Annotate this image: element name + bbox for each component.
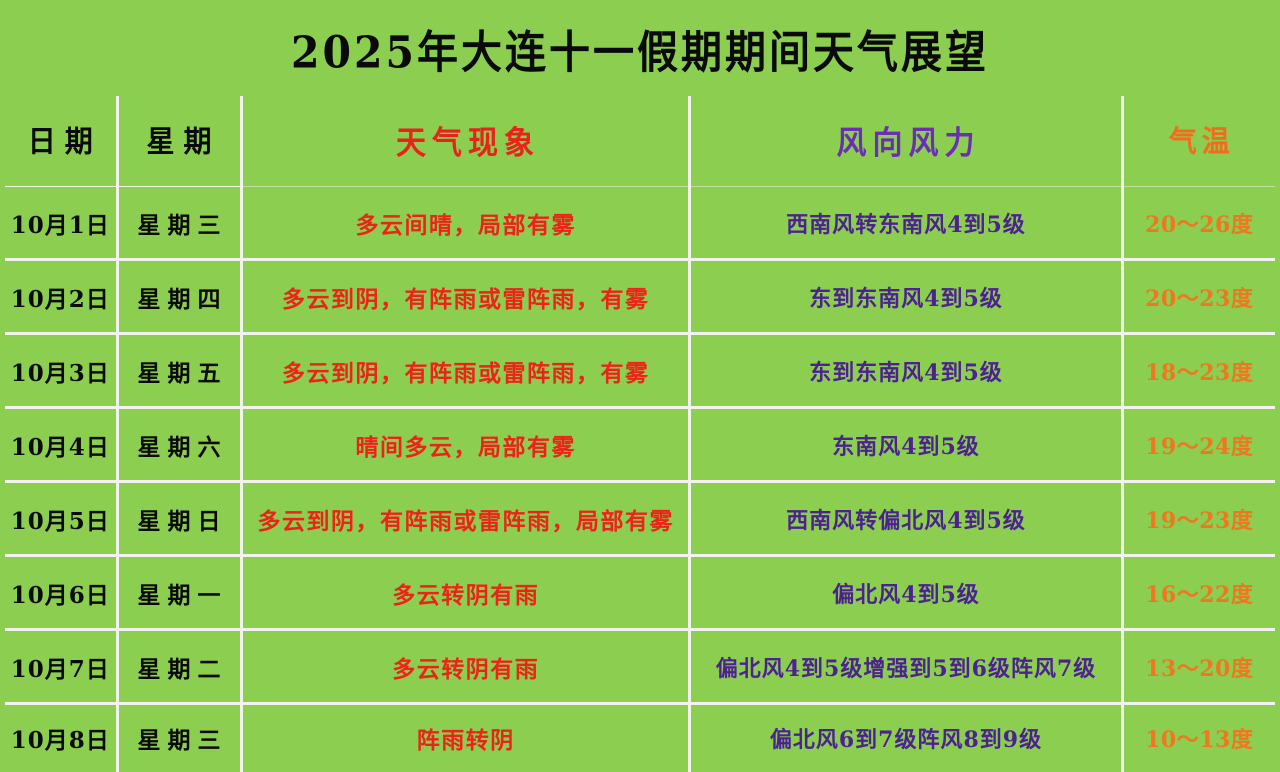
column-header-temperature: 气温 — [1122, 93, 1275, 188]
table-body: 10月1日 星期三 多云间晴，局部有雾 西南风转东南风4到5级 20～26度 1… — [5, 186, 1275, 772]
cell-date: 10月6日 — [5, 556, 117, 630]
cell-phenomenon: 多云到阴，有阵雨或雷阵雨，有雾 — [241, 260, 689, 334]
cell-wind: 东到东南风4到5级 — [689, 334, 1122, 408]
table-row: 10月5日 星期日 多云到阴，有阵雨或雷阵雨，局部有雾 西南风转偏北风4到5级 … — [5, 482, 1275, 556]
cell-weekday: 星期五 — [117, 334, 241, 408]
weather-forecast-page: 2025年大连十一假期期间天气展望 日期 星期 天气现象 风向风力 气温 10月… — [0, 0, 1280, 764]
column-header-wind: 风向风力 — [689, 93, 1122, 188]
cell-temperature: 16～22度 — [1122, 556, 1275, 630]
cell-wind: 偏北风6到7级阵风8到9级 — [689, 704, 1122, 772]
cell-wind: 西南风转偏北风4到5级 — [689, 482, 1122, 556]
cell-date: 10月3日 — [5, 334, 117, 408]
cell-wind: 东南风4到5级 — [689, 408, 1122, 482]
weather-forecast-table: 日期 星期 天气现象 风向风力 气温 10月1日 星期三 多云间晴，局部有雾 西… — [5, 96, 1275, 772]
cell-weekday: 星期二 — [117, 630, 241, 704]
cell-weekday: 星期三 — [117, 186, 241, 260]
cell-phenomenon: 多云间晴，局部有雾 — [241, 186, 689, 260]
cell-date: 10月8日 — [5, 704, 117, 772]
cell-temperature: 19～23度 — [1122, 482, 1275, 556]
table-row: 10月2日 星期四 多云到阴，有阵雨或雷阵雨，有雾 东到东南风4到5级 20～2… — [5, 260, 1275, 334]
cell-wind: 东到东南风4到5级 — [689, 260, 1122, 334]
cell-temperature: 10～13度 — [1122, 704, 1275, 772]
table-row: 10月1日 星期三 多云间晴，局部有雾 西南风转东南风4到5级 20～26度 — [5, 186, 1275, 260]
cell-phenomenon: 多云转阴有雨 — [241, 630, 689, 704]
cell-wind: 偏北风4到5级 — [689, 556, 1122, 630]
cell-date: 10月2日 — [5, 260, 117, 334]
cell-phenomenon: 多云到阴，有阵雨或雷阵雨，有雾 — [241, 334, 689, 408]
cell-phenomenon: 多云到阴，有阵雨或雷阵雨，局部有雾 — [241, 482, 689, 556]
cell-date: 10月7日 — [5, 630, 117, 704]
cell-wind: 西南风转东南风4到5级 — [689, 186, 1122, 260]
table-row: 10月3日 星期五 多云到阴，有阵雨或雷阵雨，有雾 东到东南风4到5级 18～2… — [5, 334, 1275, 408]
cell-date: 10月5日 — [5, 482, 117, 556]
cell-temperature: 13～20度 — [1122, 630, 1275, 704]
column-header-date: 日期 — [5, 94, 117, 188]
cell-date: 10月4日 — [5, 408, 117, 482]
cell-phenomenon: 阵雨转阴 — [241, 704, 689, 772]
page-title: 2025年大连十一假期期间天气展望 — [291, 16, 989, 81]
table-row: 10月7日 星期二 多云转阴有雨 偏北风4到5级增强到5到6级阵风7级 13～2… — [5, 630, 1275, 704]
cell-weekday: 星期一 — [117, 556, 241, 630]
cell-weekday: 星期六 — [117, 408, 241, 482]
cell-weekday: 星期三 — [117, 704, 241, 772]
column-header-phenomenon: 天气现象 — [241, 93, 689, 188]
title-bar: 2025年大连十一假期期间天气展望 — [0, 0, 1280, 96]
cell-temperature: 19～24度 — [1122, 408, 1275, 482]
cell-temperature: 20～23度 — [1122, 260, 1275, 334]
cell-phenomenon: 多云转阴有雨 — [241, 556, 689, 630]
table-row: 10月8日 星期三 阵雨转阴 偏北风6到7级阵风8到9级 10～13度 — [5, 704, 1275, 772]
cell-wind: 偏北风4到5级增强到5到6级阵风7级 — [689, 630, 1122, 704]
table-header-row: 日期 星期 天气现象 风向风力 气温 — [5, 96, 1275, 186]
cell-date: 10月1日 — [5, 186, 117, 260]
cell-weekday: 星期四 — [117, 260, 241, 334]
column-header-weekday: 星期 — [117, 94, 241, 188]
cell-temperature: 18～23度 — [1122, 334, 1275, 408]
table-row: 10月6日 星期一 多云转阴有雨 偏北风4到5级 16～22度 — [5, 556, 1275, 630]
cell-weekday: 星期日 — [117, 482, 241, 556]
cell-phenomenon: 晴间多云，局部有雾 — [241, 408, 689, 482]
cell-temperature: 20～26度 — [1122, 186, 1275, 260]
table-row: 10月4日 星期六 晴间多云，局部有雾 东南风4到5级 19～24度 — [5, 408, 1275, 482]
